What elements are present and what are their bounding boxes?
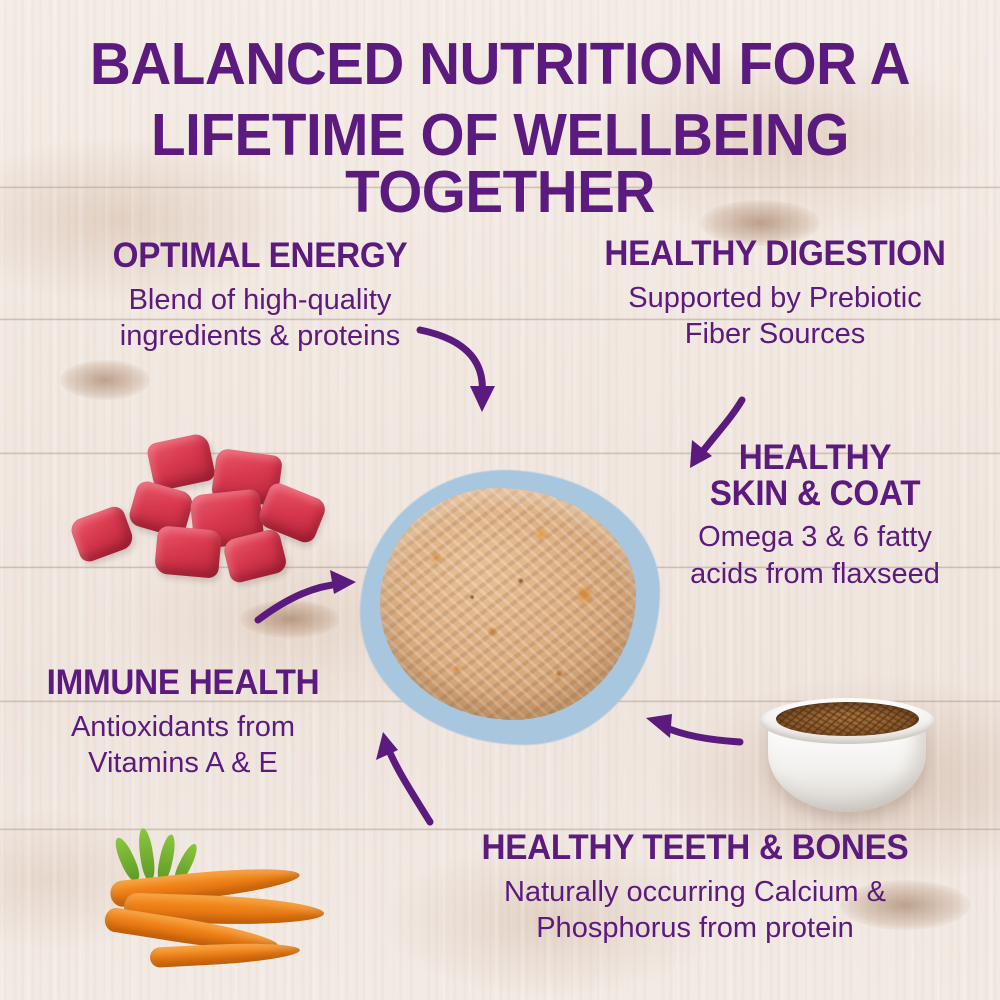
callout-title: IMMUNE HEALTH (17, 665, 350, 701)
infographic-canvas: BALANCED NUTRITION FOR A LIFETIME OF WEL… (0, 0, 1000, 1000)
callout-body-line-2: ingredients & proteins (60, 318, 460, 354)
callout-immune-health: IMMUNE HEALTH Antioxidants from Vitamins… (8, 665, 358, 781)
callout-body-line-1: Supported by Prebiotic (560, 280, 990, 316)
wood-knot (60, 360, 150, 400)
callout-title-line-2: SKIN & COAT (649, 476, 982, 512)
callout-healthy-digestion: HEALTHY DIGESTION Supported by Prebiotic… (560, 236, 990, 352)
callout-title: HEALTHY DIGESTION (571, 236, 980, 272)
headline-line-1: BALANCED NUTRITION FOR A (20, 36, 980, 93)
callout-title: HEALTHY TEETH & BONES (405, 830, 985, 866)
callout-optimal-energy: OPTIMAL ENERGY Blend of high-quality ing… (60, 238, 460, 354)
flaxseed-contents (776, 702, 919, 736)
wood-knot (240, 600, 340, 638)
callout-body-line-2: acids from flaxseed (640, 556, 990, 592)
callout-body-line-1: Naturally occurring Calcium & (390, 874, 1000, 910)
callout-body-line-2: Fiber Sources (560, 316, 990, 352)
headline-line-2: LIFETIME OF WELLBEING TOGETHER (20, 107, 980, 220)
callout-title: OPTIMAL ENERGY (70, 238, 450, 274)
dog-food-pate (380, 488, 636, 720)
callout-body-line-1: Omega 3 & 6 fatty (640, 519, 990, 555)
callout-healthy-teeth-bones: HEALTHY TEETH & BONES Naturally occurrin… (390, 830, 1000, 946)
callout-title-line-1: HEALTHY (649, 440, 982, 476)
callout-body-line-1: Blend of high-quality (60, 282, 460, 318)
callout-body-line-2: Vitamins A & E (8, 745, 358, 781)
callout-healthy-skin-coat: HEALTHY SKIN & COAT Omega 3 & 6 fatty ac… (640, 440, 990, 592)
center-food-image (360, 470, 660, 745)
callout-body-line-2: Phosphorus from protein (390, 910, 1000, 946)
flaxseed-bowl (760, 672, 935, 812)
callout-body-line-1: Antioxidants from (8, 709, 358, 745)
